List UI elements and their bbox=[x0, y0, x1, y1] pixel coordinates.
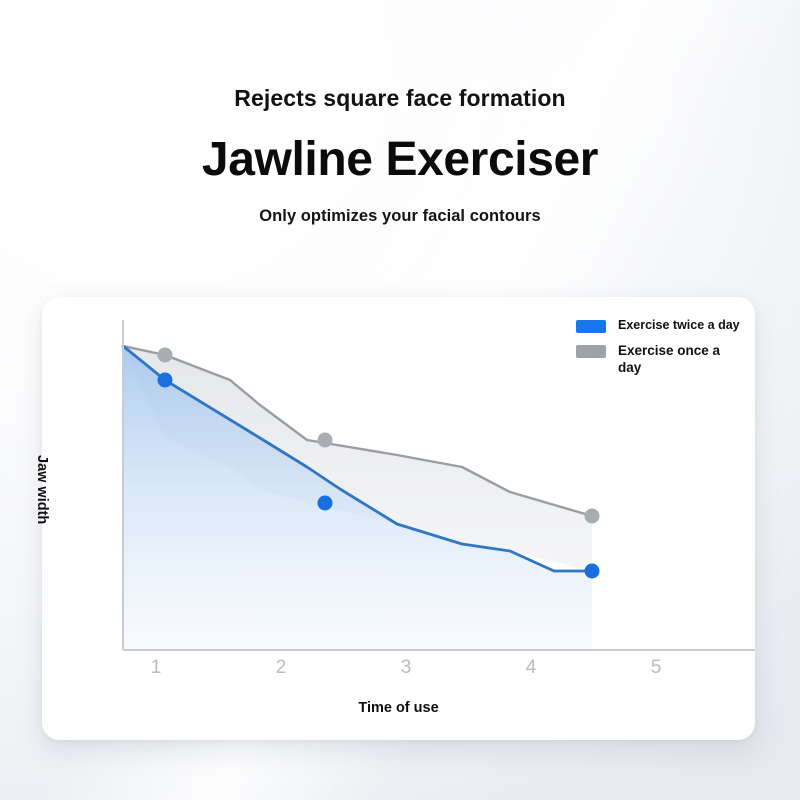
x-tick-5: 5 bbox=[651, 657, 662, 679]
legend-item-twice-a-day[interactable]: Exercise twice a day bbox=[576, 318, 748, 334]
data-point-twice-a-day-5[interactable] bbox=[585, 564, 600, 579]
data-point-twice-a-day-1[interactable] bbox=[158, 373, 173, 388]
page-title: Jawline Exerciser bbox=[0, 135, 800, 185]
data-point-once-a-day-1[interactable] bbox=[158, 348, 173, 363]
x-tick-2: 2 bbox=[276, 657, 287, 679]
data-point-once-a-day-3[interactable] bbox=[318, 433, 333, 448]
legend-swatch-gray bbox=[576, 345, 606, 358]
legend-swatch-blue bbox=[576, 320, 606, 333]
data-point-twice-a-day-3[interactable] bbox=[318, 496, 333, 511]
chart-card: Exercise twice a day Exercise once a day… bbox=[42, 297, 755, 740]
eyebrow-text: Rejects square face formation bbox=[220, 82, 579, 116]
data-point-once-a-day-5[interactable] bbox=[585, 509, 600, 524]
eyebrow-wrapper: Rejects square face formation bbox=[0, 82, 800, 116]
x-axis-title: Time of use bbox=[42, 700, 755, 716]
page-subtitle: Only optimizes your facial contours bbox=[0, 207, 800, 226]
x-tick-1: 1 bbox=[151, 657, 162, 679]
x-tick-3: 3 bbox=[401, 657, 412, 679]
header-block: Rejects square face formation Jawline Ex… bbox=[0, 0, 800, 226]
x-tick-4: 4 bbox=[526, 657, 537, 679]
legend-item-once-a-day[interactable]: Exercise once a day bbox=[576, 343, 748, 377]
y-axis-title: Jaw width bbox=[34, 455, 50, 524]
legend-label-once-a-day: Exercise once a day bbox=[618, 343, 726, 377]
chart-legend: Exercise twice a day Exercise once a day bbox=[576, 318, 748, 385]
legend-label-twice-a-day: Exercise twice a day bbox=[618, 318, 740, 334]
